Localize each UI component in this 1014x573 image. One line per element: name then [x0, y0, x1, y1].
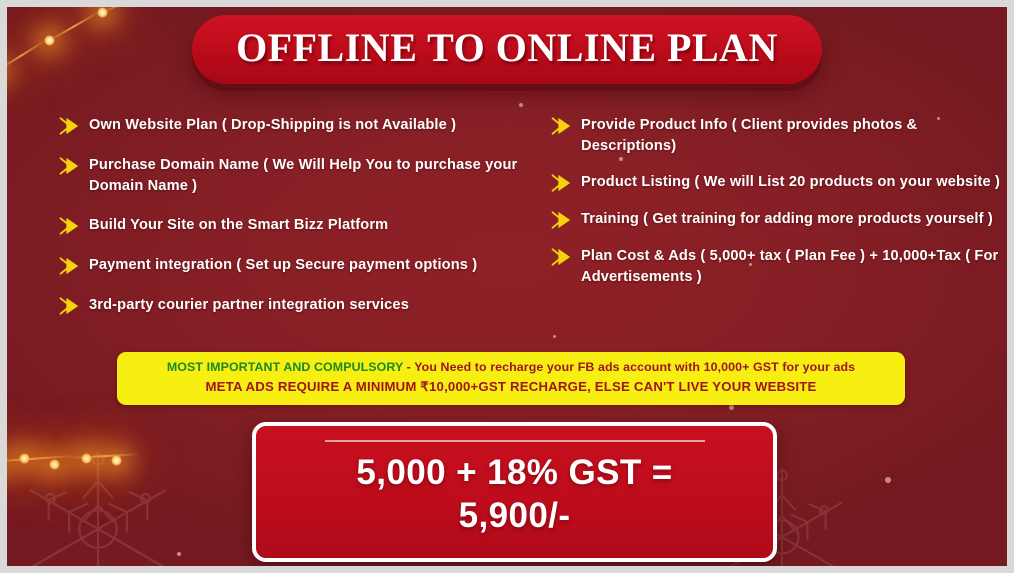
list-item-label: 3rd-party courier partner integration se…: [89, 295, 409, 316]
double-chevron-icon: [551, 116, 573, 136]
double-chevron-icon: [59, 296, 81, 316]
double-chevron-icon: [551, 173, 573, 193]
list-item: Own Website Plan ( Drop-Shipping is not …: [59, 115, 551, 136]
list-item: Build Your Site on the Smart Bizz Platfo…: [59, 215, 551, 236]
feature-columns: Own Website Plan ( Drop-Shipping is not …: [7, 115, 1007, 335]
price-line-1: 5,000 + 18% GST =: [356, 453, 672, 492]
sparkle-dot: [885, 477, 891, 483]
list-item-label: Build Your Site on the Smart Bizz Platfo…: [89, 215, 388, 236]
list-item-label: Purchase Domain Name ( We Will Help You …: [89, 155, 551, 196]
double-chevron-icon: [59, 156, 81, 176]
list-item-label: Plan Cost & Ads ( 5,000+ tax ( Plan Fee …: [581, 246, 1013, 287]
title-banner: OFFLINE TO ONLINE PLAN: [7, 15, 1007, 84]
price-line-2: 5,900/-: [459, 496, 571, 535]
price-callout-box: 5,000 + 18% GST = 5,900/-: [252, 422, 777, 562]
list-item-label: Training ( Get training for adding more …: [581, 209, 993, 230]
notice-emphasis: MOST IMPORTANT AND COMPULSORY: [167, 360, 403, 374]
sparkle-dot: [177, 552, 181, 556]
list-item: Plan Cost & Ads ( 5,000+ tax ( Plan Fee …: [551, 246, 1013, 287]
sparkle-dot: [729, 405, 734, 410]
list-item: Purchase Domain Name ( We Will Help You …: [59, 155, 551, 196]
list-item-label: Payment integration ( Set up Secure paym…: [89, 255, 477, 276]
notice-detail: - You Need to recharge your FB ads accou…: [403, 360, 855, 374]
list-item: Training ( Get training for adding more …: [551, 209, 1013, 230]
sparkle-dot: [553, 335, 556, 338]
list-item: Payment integration ( Set up Secure paym…: [59, 255, 551, 276]
list-item-label: Own Website Plan ( Drop-Shipping is not …: [89, 115, 456, 136]
list-item-label: Product Listing ( We will List 20 produc…: [581, 172, 1000, 193]
important-notice-banner: MOST IMPORTANT AND COMPULSORY - You Need…: [117, 352, 905, 405]
title-pill: OFFLINE TO ONLINE PLAN: [192, 15, 822, 84]
sparkle-dot: [519, 103, 523, 107]
promotional-poster: OFFLINE TO ONLINE PLAN Own Website Plan …: [0, 0, 1014, 573]
notice-line-1: MOST IMPORTANT AND COMPULSORY - You Need…: [127, 359, 895, 377]
page-title: OFFLINE TO ONLINE PLAN: [236, 24, 778, 71]
price-value: 5,000 + 18% GST = 5,900/-: [356, 452, 672, 537]
price-divider: [325, 440, 705, 442]
double-chevron-icon: [551, 210, 573, 230]
feature-column-left: Own Website Plan ( Drop-Shipping is not …: [59, 115, 551, 335]
notice-line-2: META ADS REQUIRE A MINIMUM ₹10,000+GST R…: [127, 377, 895, 397]
list-item-label: Provide Product Info ( Client provides p…: [581, 115, 1013, 156]
double-chevron-icon: [59, 256, 81, 276]
double-chevron-icon: [551, 247, 573, 267]
list-item: 3rd-party courier partner integration se…: [59, 295, 551, 316]
double-chevron-icon: [59, 116, 81, 136]
snowflake-decoration-bottom-left: [13, 444, 183, 573]
feature-column-right: Provide Product Info ( Client provides p…: [551, 115, 1013, 335]
list-item: Provide Product Info ( Client provides p…: [551, 115, 1013, 156]
double-chevron-icon: [59, 216, 81, 236]
list-item: Product Listing ( We will List 20 produc…: [551, 172, 1013, 193]
